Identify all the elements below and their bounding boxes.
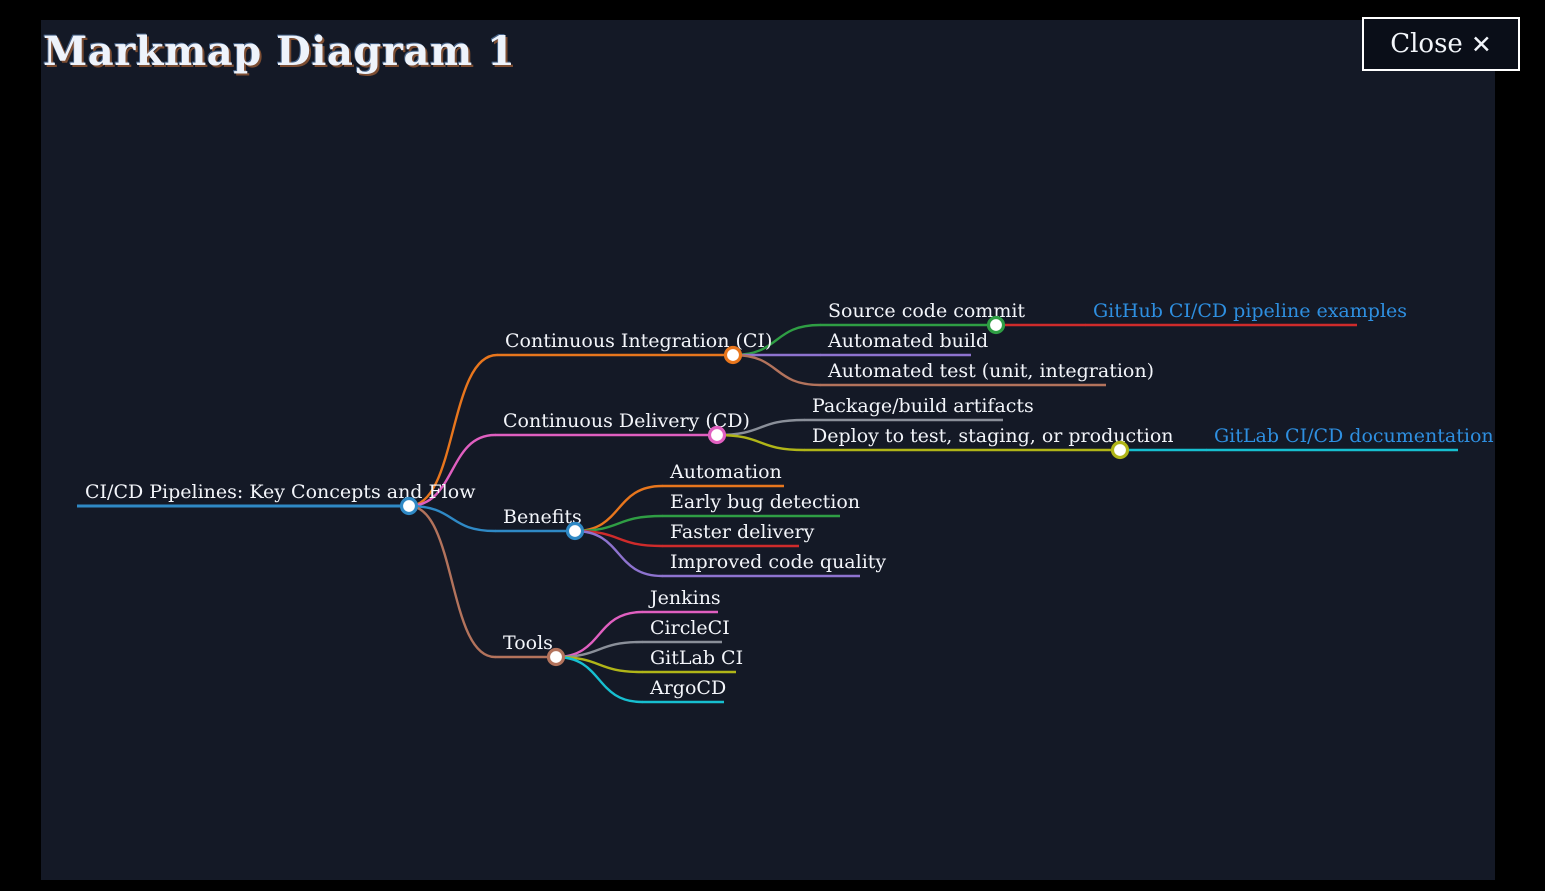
node-label-ben-1[interactable]: Automation [669,461,782,483]
edge-cd-to-cd-2 [717,435,804,450]
node-label-tool-4[interactable]: ArgoCD [649,677,726,699]
markmap-svg: CI/CD Pipelines: Key Concepts and FlowCo… [0,0,1545,891]
markmap-labels: CI/CD Pipelines: Key Concepts and FlowCo… [85,300,1494,699]
node-label-root[interactable]: CI/CD Pipelines: Key Concepts and Flow [85,481,476,503]
node-circle-benefits[interactable] [568,524,583,539]
node-circle-cd[interactable] [710,428,725,443]
edge-root-to-tools [409,506,495,657]
node-label-cd-1[interactable]: Package/build artifacts [812,395,1034,417]
node-circle-ci[interactable] [726,348,741,363]
node-label-cd-2-link[interactable]: GitLab CI/CD documentation [1214,425,1494,447]
node-label-tool-3[interactable]: GitLab CI [650,647,743,669]
node-label-ben-3[interactable]: Faster delivery [670,521,815,543]
close-button[interactable]: Close ✕ [1362,17,1520,71]
node-circle-tools[interactable] [549,650,564,665]
close-button-label: Close [1390,29,1463,59]
close-x-icon: ✕ [1471,32,1492,57]
node-label-tool-1[interactable]: Jenkins [648,587,721,609]
markmap-underlines [77,325,1458,702]
node-label-tool-2[interactable]: CircleCI [650,617,730,639]
node-label-ben-4[interactable]: Improved code quality [670,551,886,573]
node-label-ci-3[interactable]: Automated test (unit, integration) [827,360,1154,382]
node-label-ci-1-link[interactable]: GitHub CI/CD pipeline examples [1093,300,1407,322]
node-circle-root[interactable] [402,499,417,514]
node-circle-ci-1[interactable] [989,318,1004,333]
node-label-ben-2[interactable]: Early bug detection [670,491,860,513]
edge-ci-to-ci-3 [733,355,820,385]
node-label-ci-2[interactable]: Automated build [827,330,988,352]
node-label-tools[interactable]: Tools [503,632,553,654]
markmap-viewer: Markmap Diagram 1 Close ✕ CI/CD Pipeline… [0,0,1545,891]
node-circle-cd-2[interactable] [1113,443,1128,458]
